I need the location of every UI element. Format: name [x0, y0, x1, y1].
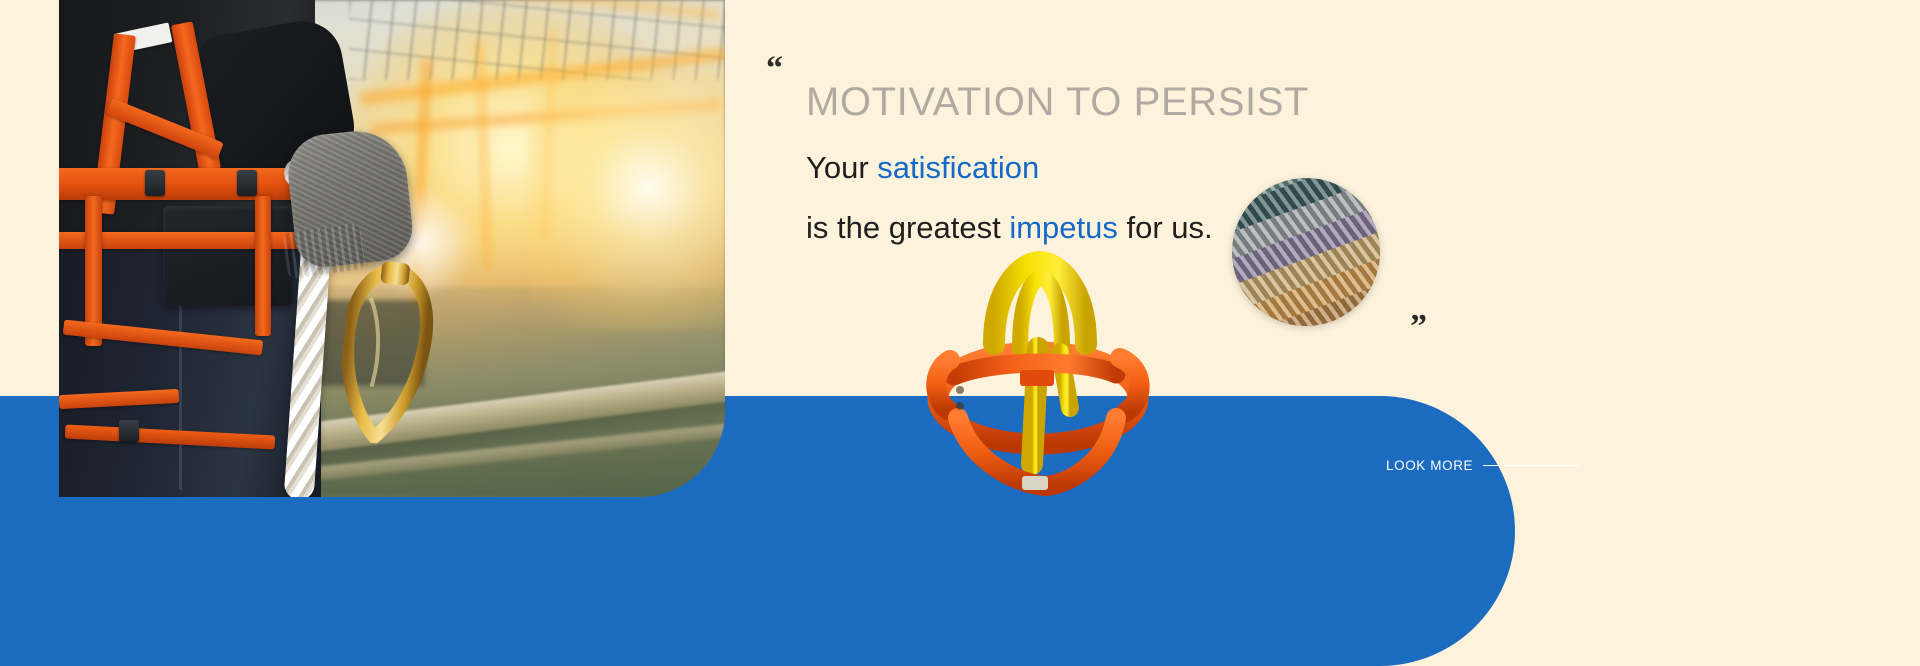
- photo-scene: [59, 0, 725, 497]
- sun-flare: [529, 70, 725, 330]
- swatch-rope-rows: [1232, 178, 1380, 326]
- jeans-seam: [179, 300, 182, 490]
- tagline-line-2-prefix: is the greatest: [806, 210, 1009, 245]
- tagline-line-1-accent: satisfication: [877, 150, 1039, 185]
- tagline-line-2-accent: impetus: [1009, 210, 1118, 245]
- yellow-orange-safety-harness-product: [920, 248, 1180, 500]
- look-more-label[interactable]: LOOK MORE: [1386, 458, 1473, 473]
- quote-open-mark: “: [766, 52, 783, 86]
- tagline-line-1: Your satisfication: [806, 150, 1039, 186]
- quote-close-mark: ”: [1410, 310, 1427, 344]
- tagline-line-2-suffix: for us.: [1118, 210, 1213, 245]
- harness-buckle: [145, 170, 165, 196]
- tagline-line-1-prefix: Your: [806, 150, 877, 185]
- tool-pouch: [163, 206, 293, 306]
- harness-vertical-strap-right: [255, 196, 271, 336]
- worker-safety-harness-photo: [59, 0, 725, 497]
- promo-banner: LOOK MORE: [0, 0, 1920, 666]
- tagline-line-2: is the greatest impetus for us.: [806, 210, 1213, 246]
- harness-buckle: [237, 170, 257, 196]
- look-more-button[interactable]: LOOK MORE: [1386, 458, 1579, 473]
- page-title: MOTIVATION TO PERSIST: [806, 80, 1309, 125]
- look-more-rule-icon: [1483, 465, 1579, 466]
- harness-buckle: [119, 420, 139, 442]
- braided-rope-color-swatch: [1232, 178, 1380, 326]
